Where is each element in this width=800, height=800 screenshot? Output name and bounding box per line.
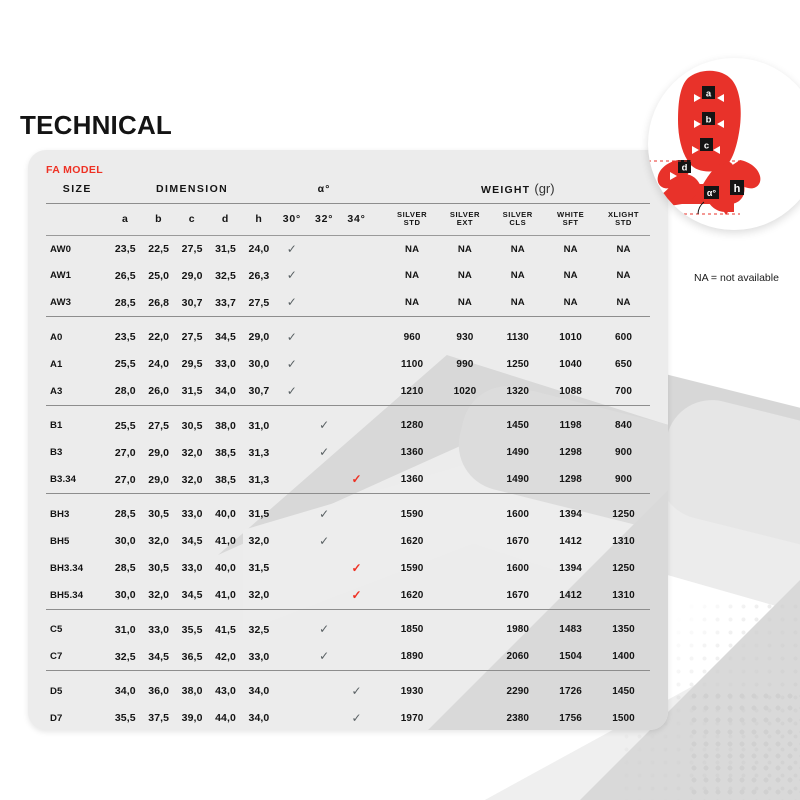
group-gap <box>46 405 650 412</box>
cell-dimension-a: 23,5 <box>109 324 142 351</box>
cell-weight-silver-std: 1360 <box>386 466 439 493</box>
cell-dimension-c: 33,0 <box>175 555 208 582</box>
cell-dimension-h: 31,3 <box>242 439 275 466</box>
cell-weight-silver-cls: 1670 <box>491 582 544 609</box>
cell-angle-30 <box>276 582 308 609</box>
cell-weight-silver-cls: 1450 <box>491 412 544 439</box>
cell-spacer <box>373 351 386 378</box>
checkmark-icon: ✓ <box>287 269 297 281</box>
cell-weight-white-sft: 1412 <box>544 582 597 609</box>
subheader-weight-silver-cls: SILVER CLS <box>491 203 544 234</box>
cell-angle-34 <box>340 643 372 670</box>
cell-angle-34 <box>340 235 372 262</box>
cell-angle-32: ✓ <box>308 528 340 555</box>
cell-weight-xlight-std: 1310 <box>597 528 650 555</box>
cell-angle-32: ✓ <box>308 643 340 670</box>
cell-weight-xlight-std: NA <box>597 262 650 289</box>
cell-weight-xlight-std: 650 <box>597 351 650 378</box>
cell-weight-silver-cls: NA <box>491 235 544 262</box>
table-row: D534,036,038,043,034,0✓1930229017261450 <box>46 678 650 705</box>
subheader-angle-34: 34° <box>340 203 372 234</box>
table-row: AW126,525,029,032,526,3✓NANANANANA <box>46 262 650 289</box>
subheader-angle-32: 32° <box>308 203 340 234</box>
cell-size: B3.34 <box>46 466 109 493</box>
subheader-weight-white-sft: WHITE SFT <box>544 203 597 234</box>
cell-weight-silver-cls: 2380 <box>491 705 544 730</box>
cell-weight-white-sft: 1040 <box>544 351 597 378</box>
cell-angle-30: ✓ <box>276 351 308 378</box>
table-row: BH530,032,034,541,032,0✓1620167014121310 <box>46 528 650 555</box>
cell-weight-xlight-std: 1400 <box>597 643 650 670</box>
cell-dimension-h: 29,0 <box>242 324 275 351</box>
cell-weight-silver-std: 1930 <box>386 678 439 705</box>
table-body: AW023,522,527,531,524,0✓NANANANANAAW126,… <box>46 235 650 730</box>
cell-weight-silver-ext <box>439 412 492 439</box>
cell-dimension-c: 36,5 <box>175 643 208 670</box>
cell-weight-silver-std: 1620 <box>386 528 439 555</box>
arrow-band-shape <box>649 390 800 569</box>
header-weight-text: WEIGHT <box>481 184 530 196</box>
cell-weight-white-sft: NA <box>544 235 597 262</box>
cell-weight-silver-ext: NA <box>439 289 492 316</box>
table-row: C531,033,035,541,532,5✓1850198014831350 <box>46 616 650 643</box>
cell-dimension-d: 40,0 <box>209 501 242 528</box>
cell-weight-silver-ext: 990 <box>439 351 492 378</box>
subheader-silver-ext-l2: EXT <box>457 218 473 227</box>
cell-angle-32 <box>308 466 340 493</box>
cell-angle-30: ✓ <box>276 378 308 405</box>
table-row: C732,534,536,542,033,0✓1890206015041400 <box>46 643 650 670</box>
cell-weight-silver-ext <box>439 466 492 493</box>
cell-dimension-a: 30,0 <box>109 582 142 609</box>
cell-size: C5 <box>46 616 109 643</box>
cell-dimension-d: 41,0 <box>209 582 242 609</box>
cell-spacer <box>373 501 386 528</box>
cell-angle-32 <box>308 555 340 582</box>
cell-dimension-a: 28,0 <box>109 378 142 405</box>
cell-size: A0 <box>46 324 109 351</box>
cell-weight-silver-ext <box>439 555 492 582</box>
checkmark-icon: ✓ <box>319 508 329 520</box>
subheader-angle-30: 30° <box>276 203 308 234</box>
cell-weight-silver-cls: 1320 <box>491 378 544 405</box>
cell-angle-30 <box>276 439 308 466</box>
cell-angle-34 <box>340 378 372 405</box>
cell-angle-34 <box>340 616 372 643</box>
cell-angle-34 <box>340 289 372 316</box>
cell-angle-30 <box>276 678 308 705</box>
checkmark-red-icon: ✓ <box>351 589 361 601</box>
cell-spacer <box>373 678 386 705</box>
subheader-silver-ext-l1: SILVER <box>450 210 480 219</box>
cell-weight-silver-std: 1360 <box>386 439 439 466</box>
cell-dimension-c: 31,5 <box>175 378 208 405</box>
cell-angle-34 <box>340 439 372 466</box>
cell-weight-white-sft: 1010 <box>544 324 597 351</box>
cell-dimension-b: 22,5 <box>142 235 175 262</box>
cell-dimension-b: 25,0 <box>142 262 175 289</box>
subheader-dim-a: a <box>109 203 142 234</box>
cell-weight-xlight-std: 1350 <box>597 616 650 643</box>
cell-spacer <box>373 324 386 351</box>
cell-weight-white-sft: 1483 <box>544 616 597 643</box>
cell-dimension-c: 27,5 <box>175 235 208 262</box>
cell-dimension-a: 26,5 <box>109 262 142 289</box>
cell-angle-32 <box>308 235 340 262</box>
specification-table: SIZE DIMENSION α° WEIGHT (gr) a b <box>46 181 650 730</box>
group-gap <box>46 317 650 324</box>
checkmark-icon: ✓ <box>287 331 297 343</box>
header-weight-unit: (gr) <box>534 181 554 196</box>
table-group-header-row: SIZE DIMENSION α° WEIGHT (gr) <box>46 181 650 202</box>
cell-dimension-b: 33,0 <box>142 616 175 643</box>
cell-angle-30 <box>276 616 308 643</box>
cell-dimension-a: 25,5 <box>109 412 142 439</box>
cell-angle-30 <box>276 528 308 555</box>
cell-dimension-a: 30,0 <box>109 528 142 555</box>
cell-weight-silver-ext <box>439 616 492 643</box>
cell-dimension-d: 32,5 <box>209 262 242 289</box>
table-subheader-row: a b c d h 30° 32° 34° SILVER STD SILVER <box>46 203 650 234</box>
cell-weight-white-sft: 1726 <box>544 678 597 705</box>
cell-weight-white-sft: 1504 <box>544 643 597 670</box>
cell-dimension-h: 33,0 <box>242 643 275 670</box>
cell-angle-30: ✓ <box>276 324 308 351</box>
cell-angle-34 <box>340 262 372 289</box>
subheader-xlight-std-l1: XLIGHT <box>608 210 639 219</box>
subheader-dim-b: b <box>142 203 175 234</box>
cell-size: D5 <box>46 678 109 705</box>
cell-size: BH5 <box>46 528 109 555</box>
svg-text:a: a <box>706 88 712 99</box>
cell-dimension-h: 30,0 <box>242 351 275 378</box>
cell-weight-white-sft: 1394 <box>544 501 597 528</box>
cell-weight-silver-cls: 2290 <box>491 678 544 705</box>
cell-angle-32 <box>308 378 340 405</box>
cell-spacer <box>373 262 386 289</box>
cell-weight-silver-std: 1210 <box>386 378 439 405</box>
cell-angle-30 <box>276 466 308 493</box>
cell-weight-silver-std: 960 <box>386 324 439 351</box>
cell-weight-silver-cls: 1980 <box>491 616 544 643</box>
svg-text:d: d <box>682 162 688 173</box>
subheader-dim-d: d <box>209 203 242 234</box>
cell-dimension-b: 30,5 <box>142 501 175 528</box>
cell-dimension-d: 33,7 <box>209 289 242 316</box>
cell-angle-34 <box>340 528 372 555</box>
cell-weight-xlight-std: 900 <box>597 439 650 466</box>
cell-dimension-h: 34,0 <box>242 678 275 705</box>
cell-weight-xlight-std: 840 <box>597 412 650 439</box>
cell-dimension-d: 34,5 <box>209 324 242 351</box>
cell-weight-silver-std: 1590 <box>386 501 439 528</box>
cell-weight-silver-cls: NA <box>491 289 544 316</box>
cell-dimension-a: 28,5 <box>109 501 142 528</box>
cell-dimension-d: 43,0 <box>209 678 242 705</box>
cell-size: AW3 <box>46 289 109 316</box>
cell-angle-32: ✓ <box>308 439 340 466</box>
cell-dimension-d: 38,5 <box>209 439 242 466</box>
svg-text:α°: α° <box>707 188 717 198</box>
checkmark-icon: ✓ <box>287 358 297 370</box>
table-row: A125,524,029,533,030,0✓11009901250104065… <box>46 351 650 378</box>
cell-dimension-d: 38,5 <box>209 466 242 493</box>
halftone-dot-pattern-secondary <box>688 690 800 800</box>
cell-weight-silver-cls: 1250 <box>491 351 544 378</box>
cell-angle-30 <box>276 643 308 670</box>
cell-angle-34 <box>340 412 372 439</box>
cell-angle-30 <box>276 412 308 439</box>
checkmark-icon: ✓ <box>287 296 297 308</box>
cell-dimension-h: 32,0 <box>242 582 275 609</box>
cell-spacer <box>373 412 386 439</box>
cell-angle-34: ✓ <box>340 466 372 493</box>
subheader-dim-c: c <box>175 203 208 234</box>
checkmark-icon: ✓ <box>319 419 329 431</box>
seat-diagram-callout: a b c d <box>648 58 800 230</box>
cell-dimension-d: 42,0 <box>209 643 242 670</box>
cell-angle-30: ✓ <box>276 262 308 289</box>
cell-weight-silver-std: 1890 <box>386 643 439 670</box>
subheader-silver-std-l1: SILVER <box>397 210 427 219</box>
cell-weight-silver-ext <box>439 439 492 466</box>
cell-weight-silver-std: 1620 <box>386 582 439 609</box>
cell-spacer <box>373 466 386 493</box>
cell-angle-32: ✓ <box>308 616 340 643</box>
cell-dimension-a: 27,0 <box>109 466 142 493</box>
seat-diagram-svg: a b c d <box>648 58 800 230</box>
cell-dimension-a: 23,5 <box>109 235 142 262</box>
cell-dimension-c: 30,7 <box>175 289 208 316</box>
subheader-xlight-std-l2: STD <box>615 218 632 227</box>
cell-angle-34: ✓ <box>340 705 372 730</box>
cell-weight-white-sft: 1756 <box>544 705 597 730</box>
cell-size: B3 <box>46 439 109 466</box>
checkmark-icon: ✓ <box>287 243 297 255</box>
header-spacer <box>373 181 386 202</box>
cell-dimension-h: 30,7 <box>242 378 275 405</box>
cell-weight-silver-cls: 1670 <box>491 528 544 555</box>
cell-weight-white-sft: 1394 <box>544 555 597 582</box>
cell-dimension-c: 32,0 <box>175 439 208 466</box>
cell-dimension-d: 38,0 <box>209 412 242 439</box>
cell-size: A3 <box>46 378 109 405</box>
cell-dimension-a: 32,5 <box>109 643 142 670</box>
cell-weight-xlight-std: 1500 <box>597 705 650 730</box>
cell-angle-32 <box>308 705 340 730</box>
cell-angle-30 <box>276 705 308 730</box>
cell-angle-32: ✓ <box>308 501 340 528</box>
cell-weight-silver-cls: 1600 <box>491 501 544 528</box>
checkmark-icon: ✓ <box>287 385 297 397</box>
cell-angle-32 <box>308 351 340 378</box>
cell-angle-34: ✓ <box>340 678 372 705</box>
cell-dimension-b: 26,8 <box>142 289 175 316</box>
cell-weight-white-sft: 1298 <box>544 439 597 466</box>
checkmark-red-icon: ✓ <box>351 562 361 574</box>
cell-spacer <box>373 616 386 643</box>
cell-dimension-a: 25,5 <box>109 351 142 378</box>
cell-weight-silver-std: 1280 <box>386 412 439 439</box>
cell-dimension-c: 29,5 <box>175 351 208 378</box>
cell-weight-xlight-std: 700 <box>597 378 650 405</box>
subheader-weight-xlight-std: XLIGHT STD <box>597 203 650 234</box>
cell-weight-silver-ext <box>439 705 492 730</box>
cell-angle-32 <box>308 678 340 705</box>
cell-dimension-b: 32,0 <box>142 528 175 555</box>
cell-weight-white-sft: 1088 <box>544 378 597 405</box>
cell-dimension-c: 29,0 <box>175 262 208 289</box>
table-row: B125,527,530,538,031,0✓128014501198840 <box>46 412 650 439</box>
checkmark-icon: ✓ <box>319 446 329 458</box>
cell-weight-silver-cls: 1490 <box>491 439 544 466</box>
svg-text:h: h <box>734 183 741 195</box>
cell-weight-silver-cls: 1130 <box>491 324 544 351</box>
cell-weight-xlight-std: 600 <box>597 324 650 351</box>
cell-dimension-d: 33,0 <box>209 351 242 378</box>
cell-dimension-h: 31,5 <box>242 555 275 582</box>
cell-dimension-h: 26,3 <box>242 262 275 289</box>
cell-angle-32 <box>308 582 340 609</box>
cell-size: B1 <box>46 412 109 439</box>
cell-angle-32 <box>308 262 340 289</box>
cell-dimension-b: 32,0 <box>142 582 175 609</box>
cell-weight-xlight-std: NA <box>597 289 650 316</box>
cell-size: D7 <box>46 705 109 730</box>
cell-size: A1 <box>46 351 109 378</box>
cell-dimension-h: 32,0 <box>242 528 275 555</box>
cell-dimension-c: 35,5 <box>175 616 208 643</box>
cell-dimension-c: 39,0 <box>175 705 208 730</box>
cell-dimension-b: 29,0 <box>142 439 175 466</box>
cell-dimension-d: 34,0 <box>209 378 242 405</box>
cell-angle-32: ✓ <box>308 412 340 439</box>
table-row: BH5.3430,032,034,541,032,0✓1620167014121… <box>46 582 650 609</box>
header-size: SIZE <box>46 181 109 202</box>
cell-angle-30 <box>276 501 308 528</box>
table-row: AW023,522,527,531,524,0✓NANANANANA <box>46 235 650 262</box>
cell-spacer <box>373 289 386 316</box>
subheader-white-sft-l1: WHITE <box>557 210 584 219</box>
cell-dimension-c: 32,0 <box>175 466 208 493</box>
cell-dimension-d: 31,5 <box>209 235 242 262</box>
cell-dimension-d: 41,5 <box>209 616 242 643</box>
cell-dimension-a: 35,5 <box>109 705 142 730</box>
cell-dimension-h: 31,3 <box>242 466 275 493</box>
cell-weight-silver-ext <box>439 643 492 670</box>
cell-angle-34 <box>340 324 372 351</box>
cell-weight-silver-cls: NA <box>491 262 544 289</box>
group-gap <box>46 609 650 616</box>
cell-dimension-c: 34,5 <box>175 582 208 609</box>
subheader-silver-std-l2: STD <box>404 218 421 227</box>
cell-dimension-c: 38,0 <box>175 678 208 705</box>
checkmark-icon: ✓ <box>319 535 329 547</box>
subheader-silver-cls-l1: SILVER <box>503 210 533 219</box>
fa-model-text: FA MODEL <box>46 164 103 176</box>
cell-dimension-h: 32,5 <box>242 616 275 643</box>
subheader-size-blank <box>46 203 109 234</box>
cell-dimension-h: 34,0 <box>242 705 275 730</box>
table-row: A328,026,031,534,030,7✓12101020132010887… <box>46 378 650 405</box>
cell-weight-silver-cls: 1600 <box>491 555 544 582</box>
svg-text:b: b <box>706 114 712 125</box>
cell-angle-30: ✓ <box>276 289 308 316</box>
cell-weight-silver-std: 1850 <box>386 616 439 643</box>
cell-weight-silver-ext <box>439 678 492 705</box>
cell-spacer <box>373 705 386 730</box>
cell-weight-silver-cls: 2060 <box>491 643 544 670</box>
subheader-dim-h: h <box>242 203 275 234</box>
cell-weight-white-sft: NA <box>544 289 597 316</box>
cell-spacer <box>373 378 386 405</box>
cell-weight-xlight-std: 1250 <box>597 501 650 528</box>
table-row: BH3.3428,530,533,040,031,5✓1590160013941… <box>46 555 650 582</box>
cell-dimension-d: 41,0 <box>209 528 242 555</box>
cell-dimension-d: 44,0 <box>209 705 242 730</box>
cell-dimension-c: 27,5 <box>175 324 208 351</box>
cell-angle-32 <box>308 324 340 351</box>
cell-dimension-b: 27,5 <box>142 412 175 439</box>
cell-dimension-h: 31,0 <box>242 412 275 439</box>
cell-spacer <box>373 439 386 466</box>
table-row: B327,029,032,038,531,3✓136014901298900 <box>46 439 650 466</box>
spec-table-panel: FA MODEL SIZE DIMENSION α° WE <box>28 150 668 730</box>
page-title: TECHNICAL <box>20 110 172 141</box>
cell-angle-34: ✓ <box>340 555 372 582</box>
cell-dimension-d: 40,0 <box>209 555 242 582</box>
fa-model-label: FA MODEL <box>46 164 650 176</box>
cell-dimension-a: 28,5 <box>109 555 142 582</box>
cell-spacer <box>373 643 386 670</box>
checkmark-icon: ✓ <box>351 685 361 697</box>
cell-dimension-h: 27,5 <box>242 289 275 316</box>
cell-dimension-c: 33,0 <box>175 501 208 528</box>
subheader-white-sft-l2: SFT <box>563 218 579 227</box>
cell-weight-silver-std: 1100 <box>386 351 439 378</box>
cell-size: BH3 <box>46 501 109 528</box>
cell-angle-30 <box>276 555 308 582</box>
checkmark-icon: ✓ <box>351 712 361 724</box>
checkmark-icon: ✓ <box>319 623 329 635</box>
cell-weight-silver-ext <box>439 582 492 609</box>
table-row: D735,537,539,044,034,0✓1970238017561500 <box>46 705 650 730</box>
cell-size: BH3.34 <box>46 555 109 582</box>
cell-weight-silver-std: 1590 <box>386 555 439 582</box>
table-row: BH328,530,533,040,031,5✓1590160013941250 <box>46 501 650 528</box>
cell-dimension-b: 22,0 <box>142 324 175 351</box>
cell-dimension-a: 31,0 <box>109 616 142 643</box>
cell-weight-silver-ext: NA <box>439 262 492 289</box>
cell-weight-xlight-std: 1250 <box>597 555 650 582</box>
cell-dimension-a: 27,0 <box>109 439 142 466</box>
cell-angle-32 <box>308 289 340 316</box>
table-row: AW328,526,830,733,727,5✓NANANANANA <box>46 289 650 316</box>
table-row: A023,522,027,534,529,0✓96093011301010600 <box>46 324 650 351</box>
cell-size: AW1 <box>46 262 109 289</box>
cell-dimension-b: 26,0 <box>142 378 175 405</box>
cell-weight-silver-cls: 1490 <box>491 466 544 493</box>
cell-dimension-c: 34,5 <box>175 528 208 555</box>
cell-dimension-b: 34,5 <box>142 643 175 670</box>
subheader-silver-cls-l2: CLS <box>509 218 526 227</box>
header-weight: WEIGHT (gr) <box>386 181 650 202</box>
table-row: B3.3427,029,032,038,531,3✓13601490129890… <box>46 466 650 493</box>
cell-weight-xlight-std: 1450 <box>597 678 650 705</box>
checkmark-icon: ✓ <box>319 650 329 662</box>
cell-spacer <box>373 528 386 555</box>
header-dimension: DIMENSION <box>109 181 276 202</box>
